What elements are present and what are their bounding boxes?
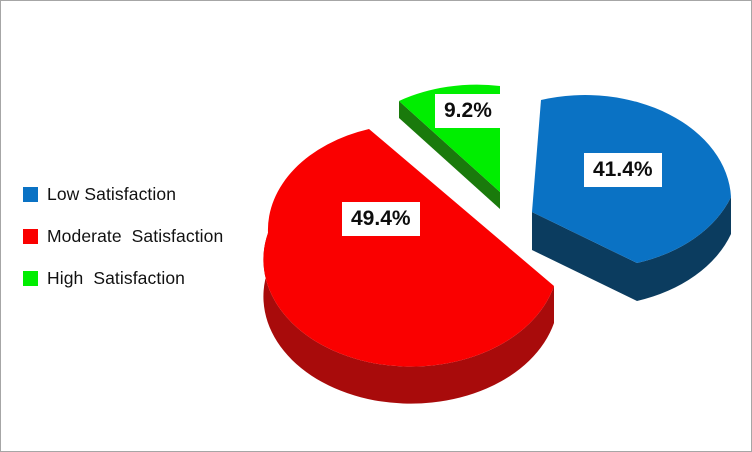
- pie-chart-figure: 41.4% 49.4% 9.2% Low Satisfaction Modera…: [0, 0, 752, 452]
- legend-swatch-icon-low: [23, 187, 38, 202]
- pie-slice-low[interactable]: [532, 95, 731, 301]
- data-label-high-satisfaction: 9.2%: [435, 94, 501, 128]
- legend-label-low: Low Satisfaction: [47, 184, 176, 205]
- legend-swatch-icon-high: [23, 271, 38, 286]
- legend-item-low-satisfaction[interactable]: Low Satisfaction: [23, 173, 263, 215]
- legend-swatch-icon-moderate: [23, 229, 38, 244]
- legend-label-high: High Satisfaction: [47, 268, 185, 289]
- legend-item-high-satisfaction[interactable]: High Satisfaction: [23, 257, 263, 299]
- chart-legend: Low Satisfaction Moderate Satisfaction H…: [23, 173, 263, 299]
- pie-slice-moderate-top: [263, 129, 554, 367]
- legend-item-moderate-satisfaction[interactable]: Moderate Satisfaction: [23, 215, 263, 257]
- legend-label-moderate: Moderate Satisfaction: [47, 226, 223, 247]
- data-label-moderate-satisfaction: 49.4%: [342, 202, 420, 236]
- data-label-low-satisfaction: 41.4%: [584, 153, 662, 187]
- pie-slice-moderate[interactable]: [263, 129, 554, 404]
